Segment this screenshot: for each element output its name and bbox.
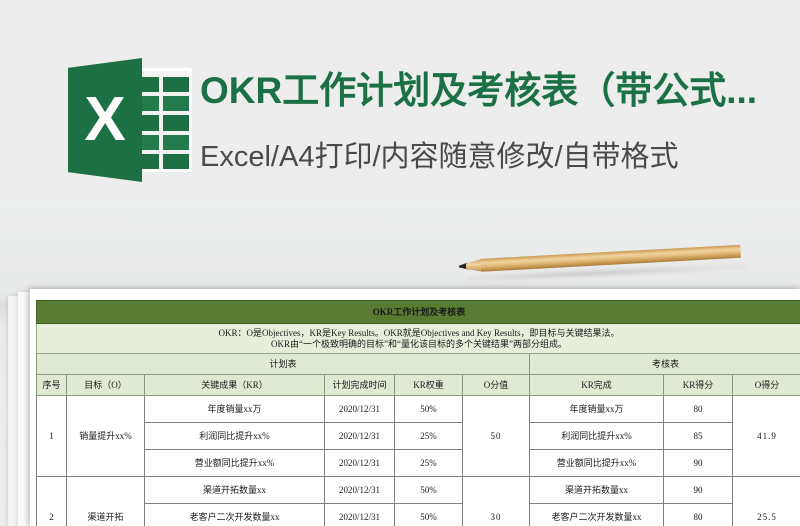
column-header-kr-weight: KR权重 — [395, 375, 463, 396]
cell-kr-weight: 25% — [395, 450, 463, 477]
group-header-plan: 计划表 — [37, 354, 530, 375]
cell-o-score: 41.9 — [733, 396, 800, 477]
cell-o-score: 25.5 — [733, 477, 800, 526]
cell-due-date: 2020/12/31 — [325, 450, 395, 477]
preview-banner: X OKR工作计划及考核表（带公式... Excel/A4打印/内容随意修改/自… — [0, 0, 800, 200]
cell-objective: 渠道开拓 — [67, 477, 145, 526]
column-header-due-date: 计划完成时间 — [325, 375, 395, 396]
excel-icon-cell — [163, 96, 189, 111]
cell-kr-weight: 50% — [395, 504, 463, 526]
excel-icon-cell — [163, 77, 189, 92]
cell-kr-weight: 50% — [395, 396, 463, 423]
cell-due-date: 2020/12/31 — [325, 477, 395, 504]
cell-kr-completed: 年度销量xx万 — [530, 396, 664, 423]
group-header-assessment: 考核表 — [530, 354, 800, 375]
cell-o-value: 50 — [463, 396, 530, 477]
cell-kr-completed: 渠道开拓数量xx — [530, 477, 664, 504]
excel-icon-cell — [163, 115, 189, 130]
cell-due-date: 2020/12/31 — [325, 504, 395, 526]
cell-kr-weight: 50% — [395, 477, 463, 504]
table-row: 1 销量提升xx% 年度销量xx万 2020/12/31 50% 50 年度销量… — [37, 396, 800, 423]
column-header-key-result: 关键成果（KR） — [145, 375, 325, 396]
preview-subtitle: Excel/A4打印/内容随意修改/自带格式 — [200, 133, 800, 181]
cell-objective: 销量提升xx% — [67, 396, 145, 477]
okr-sheet: OKR工作计划及考核表 OKR：O是Objectives，KR是Key Resu… — [36, 300, 781, 526]
excel-icon-cell — [163, 154, 189, 169]
sheet-title: OKR工作计划及考核表 — [37, 301, 800, 324]
cell-key-result: 利润同比提升xx% — [145, 423, 325, 450]
cell-kr-completed: 老客户二次开发数量xx — [530, 504, 664, 526]
okr-table: OKR工作计划及考核表 OKR：O是Objectives，KR是Key Resu… — [36, 300, 800, 526]
column-header-index: 序号 — [37, 375, 67, 396]
cell-kr-completed: 营业额同比提升xx% — [530, 450, 664, 477]
table-row: 2 渠道开拓 渠道开拓数量xx 2020/12/31 50% 30 渠道开拓数量… — [37, 477, 800, 504]
column-header-kr-completed: KR完成 — [530, 375, 664, 396]
cell-kr-score: 80 — [664, 396, 733, 423]
cell-due-date: 2020/12/31 — [325, 396, 395, 423]
cell-kr-score: 85 — [664, 423, 733, 450]
screenshot-stage: X OKR工作计划及考核表（带公式... Excel/A4打印/内容随意修改/自… — [0, 0, 800, 526]
preview-title: OKR工作计划及考核表（带公式... — [200, 63, 800, 119]
column-header-o-value: O分值 — [463, 375, 530, 396]
table-row-group-headers: 计划表 考核表 — [37, 354, 800, 375]
excel-icon-cell — [163, 135, 189, 150]
cell-due-date: 2020/12/31 — [325, 423, 395, 450]
cell-index: 2 — [37, 477, 67, 526]
column-header-objective: 目标（O） — [67, 375, 145, 396]
column-header-o-score: O得分 — [733, 375, 800, 396]
spreadsheet-page: OKR工作计划及考核表 OKR：O是Objectives，KR是Key Resu… — [30, 289, 800, 526]
table-row: 营业额同比提升xx% 2020/12/31 25% 营业额同比提升xx% 90 — [37, 450, 800, 477]
cell-key-result: 年度销量xx万 — [145, 396, 325, 423]
excel-icon-letter: X — [68, 58, 142, 182]
table-row-title: OKR工作计划及考核表 — [37, 301, 800, 324]
table-row: 利润同比提升xx% 2020/12/31 25% 利润同比提升xx% 85 — [37, 423, 800, 450]
excel-icon: X — [68, 58, 192, 182]
cell-kr-weight: 25% — [395, 423, 463, 450]
cell-kr-score: 80 — [664, 504, 733, 526]
okr-description: OKR：O是Objectives，KR是Key Results。OKR就是Obj… — [37, 324, 800, 354]
cell-kr-score: 90 — [664, 450, 733, 477]
cell-o-value: 30 — [463, 477, 530, 526]
table-row-description: OKR：O是Objectives，KR是Key Results。OKR就是Obj… — [37, 324, 800, 354]
cell-key-result: 老客户二次开发数量xx — [145, 504, 325, 526]
table-row: 老客户二次开发数量xx 2020/12/31 50% 老客户二次开发数量xx 8… — [37, 504, 800, 526]
cell-kr-score: 90 — [664, 477, 733, 504]
cell-key-result: 营业额同比提升xx% — [145, 450, 325, 477]
cell-kr-completed: 利润同比提升xx% — [530, 423, 664, 450]
cell-index: 1 — [37, 396, 67, 477]
column-header-kr-score: KR得分 — [664, 375, 733, 396]
cell-key-result: 渠道开拓数量xx — [145, 477, 325, 504]
table-row-column-headers: 序号 目标（O） 关键成果（KR） 计划完成时间 KR权重 O分值 KR完成 K… — [37, 375, 800, 396]
